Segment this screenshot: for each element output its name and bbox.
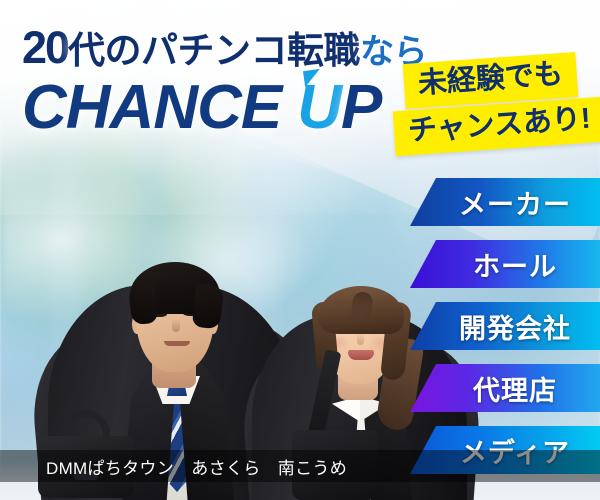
credit-text: DMMぱちタウン あさくら 南こうめ bbox=[46, 454, 347, 479]
male-hair-left-strand bbox=[128, 283, 158, 325]
menu-item-development-company[interactable]: 開発会社 bbox=[410, 302, 600, 350]
category-menu: メーカー ホール 開発会社 代理店 メディア bbox=[410, 178, 600, 488]
menu-item-hall-label: ホール bbox=[453, 245, 557, 284]
male-nose bbox=[172, 319, 180, 332]
menu-item-hall[interactable]: ホール bbox=[410, 240, 600, 288]
female-nose bbox=[357, 333, 364, 345]
chance-up-logo: CHANCEUP bbox=[22, 72, 381, 143]
credit-band: DMMぱちタウン あさくら 南こうめ bbox=[0, 450, 600, 482]
logo-chance-word: CHANCE bbox=[22, 73, 281, 142]
logo-up-group: UP bbox=[297, 72, 381, 143]
menu-item-agency[interactable]: 代理店 bbox=[410, 364, 600, 412]
female-mouth bbox=[348, 350, 374, 360]
menu-item-development-company-label: 開発会社 bbox=[439, 307, 571, 346]
headline-text: 20代のパチンコ転職なら bbox=[22, 20, 427, 74]
menu-item-maker-label: メーカー bbox=[439, 183, 571, 222]
headline-main: 代のパチンコ転職 bbox=[68, 30, 360, 71]
male-mouth bbox=[164, 341, 190, 346]
menu-item-agency-label: 代理店 bbox=[453, 369, 557, 408]
pachinko-career-banner: 20代のパチンコ転職なら CHANCEUP 未経験でも チャンスあり! メーカー… bbox=[0, 0, 600, 500]
logo-up-p: P bbox=[341, 73, 381, 142]
menu-item-maker[interactable]: メーカー bbox=[410, 178, 600, 226]
arrow-up-icon bbox=[303, 69, 322, 87]
headline-number: 20 bbox=[22, 22, 68, 73]
female-bangs-part bbox=[350, 291, 374, 323]
